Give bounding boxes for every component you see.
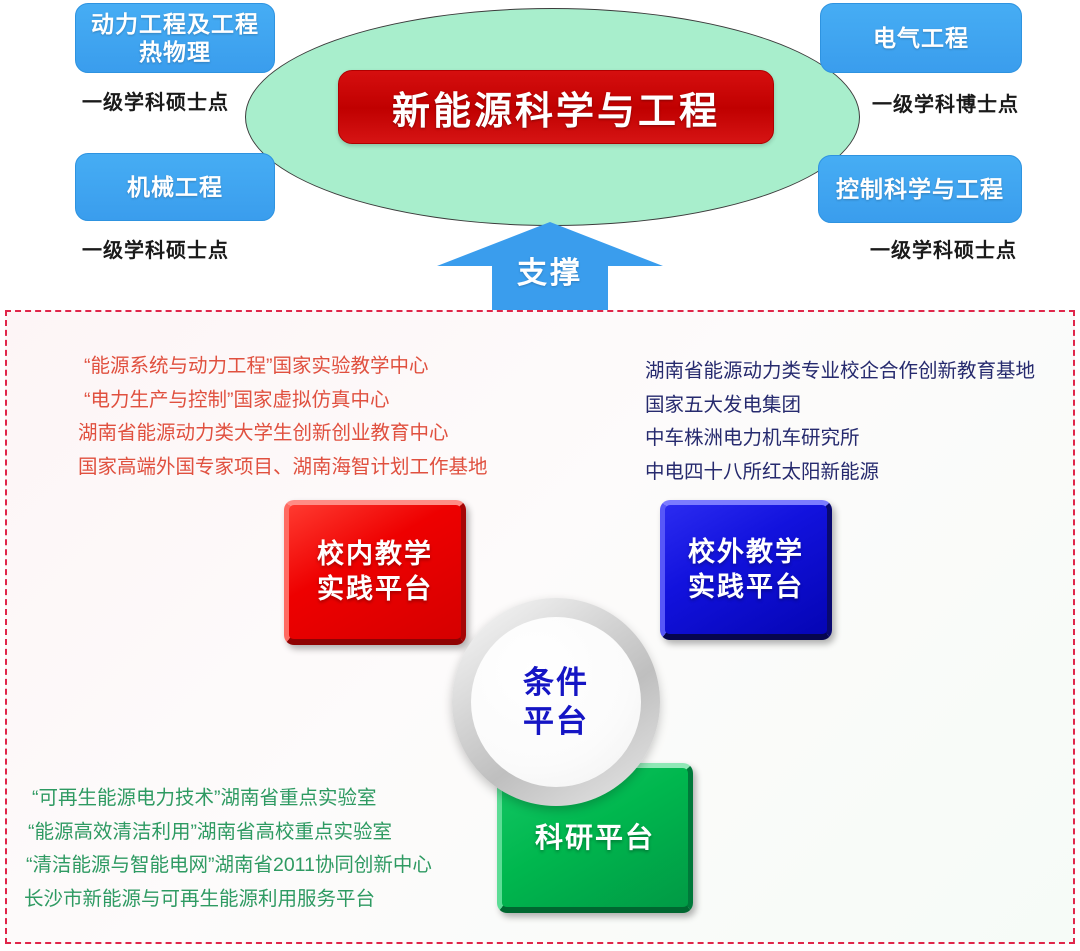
discipline-box-electrical-engineering[interactable]: 电气工程 xyxy=(820,3,1022,73)
list-item: 湖南省能源动力类专业校企合作创新教育基地 xyxy=(645,355,1035,389)
in-campus-platform-items: “能源系统与动力工程”国家实验教学中心 “电力生产与控制”国家虚拟仿真中心 湖南… xyxy=(78,350,488,484)
discipline-degree-label-power-engineering: 一级学科硕士点 xyxy=(82,86,229,115)
diagram-canvas: 新能源科学与工程 动力工程及工程 热物理 一级学科硕士点 机械工程 一级学科硕士… xyxy=(0,0,1080,951)
discipline-degree-label-control-science: 一级学科硕士点 xyxy=(870,234,1017,263)
support-arrow-icon xyxy=(437,222,663,312)
discipline-box-power-engineering[interactable]: 动力工程及工程 热物理 xyxy=(75,3,275,73)
list-item: “电力生产与控制”国家虚拟仿真中心 xyxy=(78,384,488,418)
in-campus-platform-box[interactable]: 校内教学 实践平台 xyxy=(284,500,466,645)
discipline-box-mechanical-engineering[interactable]: 机械工程 xyxy=(75,153,275,221)
list-item: “能源高效清洁利用”湖南省高校重点实验室 xyxy=(24,816,432,850)
condition-platform-hub-inner: 条件 平台 xyxy=(471,617,641,787)
hub-label-line2: 平台 xyxy=(523,704,589,739)
discipline-box-mechanical-engineering-label: 机械工程 xyxy=(127,173,223,201)
off-campus-platform-label-line2: 实践平台 xyxy=(688,572,804,602)
off-campus-platform-items: 湖南省能源动力类专业校企合作创新教育基地 国家五大发电集团 中车株洲电力机车研究… xyxy=(645,355,1035,489)
off-campus-platform-box[interactable]: 校外教学 实践平台 xyxy=(660,500,832,640)
list-item: 湖南省能源动力类大学生创新创业教育中心 xyxy=(78,417,488,451)
list-item: “能源系统与动力工程”国家实验教学中心 xyxy=(78,350,488,384)
discipline-box-electrical-engineering-label: 电气工程 xyxy=(873,24,969,52)
list-item: 长沙市新能源与可再生能源利用服务平台 xyxy=(24,883,432,917)
research-platform-items: “可再生能源电力技术”湖南省重点实验室 “能源高效清洁利用”湖南省高校重点实验室… xyxy=(24,782,432,916)
discipline-box-power-engineering-line2: 热物理 xyxy=(139,39,211,65)
list-item: 中车株洲电力机车研究所 xyxy=(645,422,1035,456)
in-campus-platform-label-line1: 校内教学 xyxy=(317,539,433,569)
hub-label-line1: 条件 xyxy=(523,665,589,700)
discipline-degree-label-electrical-engineering: 一级学科博士点 xyxy=(872,88,1019,117)
center-discipline-label: 新能源科学与工程 xyxy=(392,80,720,135)
off-campus-platform-label-line1: 校外教学 xyxy=(688,537,804,567)
list-item: 中电四十八所红太阳新能源 xyxy=(645,456,1035,490)
in-campus-platform-label-line2: 实践平台 xyxy=(317,574,433,604)
list-item: 国家五大发电集团 xyxy=(645,389,1035,423)
discipline-box-control-science[interactable]: 控制科学与工程 xyxy=(818,155,1022,223)
list-item: “清洁能源与智能电网”湖南省2011协同创新中心 xyxy=(24,849,432,883)
discipline-box-control-science-label: 控制科学与工程 xyxy=(836,175,1004,203)
discipline-box-power-engineering-line1: 动力工程及工程 xyxy=(91,11,259,37)
center-discipline-banner: 新能源科学与工程 xyxy=(338,70,774,144)
list-item: 国家高端外国专家项目、湖南海智计划工作基地 xyxy=(78,451,488,485)
research-platform-label: 科研平台 xyxy=(535,820,655,856)
list-item: “可再生能源电力技术”湖南省重点实验室 xyxy=(24,782,432,816)
condition-platform-hub[interactable]: 条件 平台 xyxy=(452,598,660,806)
discipline-degree-label-mechanical-engineering: 一级学科硕士点 xyxy=(82,234,229,263)
